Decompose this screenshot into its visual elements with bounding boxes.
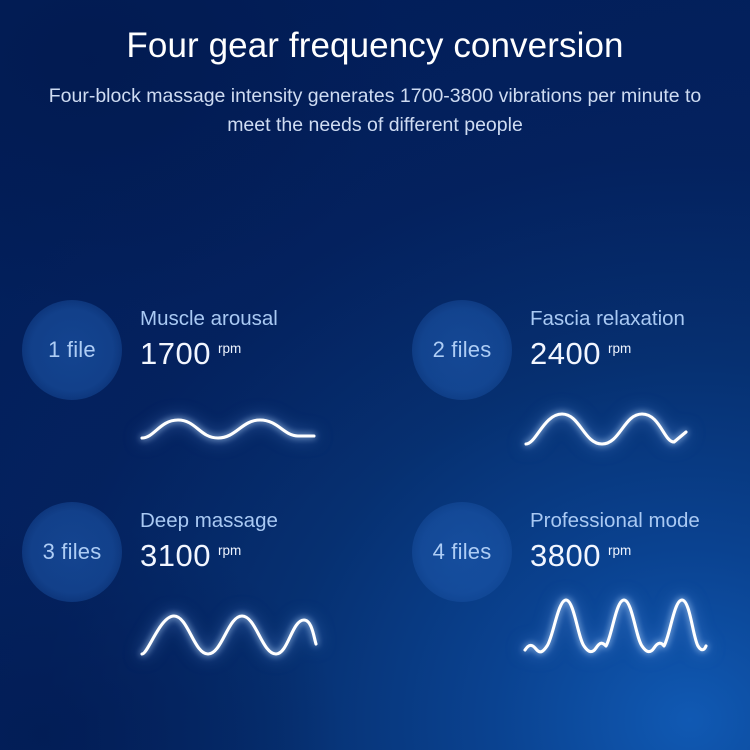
gear-badge-label-2: 2 files bbox=[433, 337, 492, 363]
gear-rpm-value-2: 2400 bbox=[530, 337, 601, 371]
gear-rpm-unit-1: rpm bbox=[218, 341, 241, 356]
gear-badge-2: 2 files bbox=[412, 300, 512, 400]
gear-rpm-value-3: 3100 bbox=[140, 539, 211, 573]
page-title: Four gear frequency conversion bbox=[0, 0, 750, 66]
waveform-gentle-sine-icon bbox=[138, 402, 318, 462]
gear-rpm-row-2: 2400 rpm bbox=[530, 337, 750, 371]
gear-rpm-unit-2: rpm bbox=[608, 341, 631, 356]
gear-card-4: 4 files Professional mode 3800 rpm bbox=[390, 486, 750, 686]
poster-header: Four gear frequency conversion Four-bloc… bbox=[0, 0, 750, 139]
gear-info-3: Deep massage 3100 rpm bbox=[140, 510, 365, 573]
gear-mode-name-4: Professional mode bbox=[530, 510, 750, 533]
gear-badge-label-4: 4 files bbox=[433, 539, 492, 565]
gear-badge-3: 3 files bbox=[22, 502, 122, 602]
gear-rpm-row-3: 3100 rpm bbox=[140, 539, 365, 573]
gear-badge-4: 4 files bbox=[412, 502, 512, 602]
gear-rpm-row-4: 3800 rpm bbox=[530, 539, 750, 573]
gear-mode-name-3: Deep massage bbox=[140, 510, 365, 533]
product-feature-poster: Four gear frequency conversion Four-bloc… bbox=[0, 0, 750, 750]
gear-mode-name-2: Fascia relaxation bbox=[530, 308, 750, 331]
gear-grid: 1 file Muscle arousal 1700 rpm 2 files bbox=[0, 284, 750, 704]
gear-card-3: 3 files Deep massage 3100 rpm bbox=[0, 486, 375, 686]
gear-info-4: Professional mode 3800 rpm bbox=[530, 510, 750, 573]
waveform-spiky-pulse-icon bbox=[522, 594, 702, 654]
gear-info-1: Muscle arousal 1700 rpm bbox=[140, 308, 365, 371]
gear-mode-name-1: Muscle arousal bbox=[140, 308, 365, 331]
gear-rpm-unit-4: rpm bbox=[608, 543, 631, 558]
gear-badge-label-3: 3 files bbox=[43, 539, 102, 565]
gear-rpm-value-1: 1700 bbox=[140, 337, 211, 371]
gear-card-2: 2 files Fascia relaxation 2400 rpm bbox=[390, 284, 750, 484]
waveform-sine-tall-icon bbox=[138, 608, 318, 668]
gear-badge-1: 1 file bbox=[22, 300, 122, 400]
gear-info-2: Fascia relaxation 2400 rpm bbox=[530, 308, 750, 371]
gear-badge-label-1: 1 file bbox=[48, 337, 96, 363]
page-subtitle: Four-block massage intensity generates 1… bbox=[39, 82, 711, 139]
gear-rpm-unit-3: rpm bbox=[218, 543, 241, 558]
gear-rpm-row-1: 1700 rpm bbox=[140, 337, 365, 371]
gear-card-1: 1 file Muscle arousal 1700 rpm bbox=[0, 284, 375, 484]
waveform-sine-icon bbox=[522, 402, 702, 462]
gear-rpm-value-4: 3800 bbox=[530, 539, 601, 573]
